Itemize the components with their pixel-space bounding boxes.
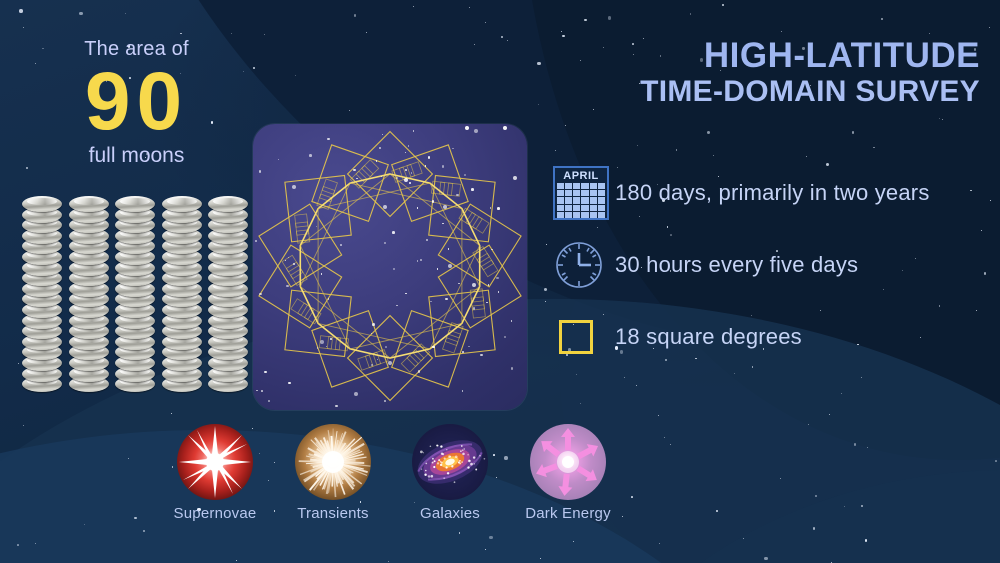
- galaxy-star: [474, 463, 475, 464]
- calendar-cell: [598, 197, 605, 203]
- dark-energy-arrow: [534, 460, 559, 481]
- star: [873, 147, 875, 149]
- calendar-cell: [573, 212, 580, 218]
- science-label-galaxies: Galaxies: [395, 505, 505, 522]
- star: [841, 393, 842, 394]
- clock-icon-wrap: [553, 239, 615, 291]
- panel-star: [456, 194, 459, 197]
- panel-star: [471, 188, 474, 191]
- title-line-2: TIME-DOMAIN SURVEY: [560, 75, 980, 109]
- star: [780, 478, 781, 479]
- star: [537, 62, 541, 66]
- star: [844, 506, 845, 507]
- calendar-cell: [565, 205, 572, 211]
- galaxy-star: [428, 475, 430, 477]
- star: [781, 31, 782, 32]
- panel-star: [340, 244, 342, 246]
- galaxy-star: [455, 455, 458, 458]
- calendar-cell: [557, 205, 564, 211]
- star: [861, 505, 863, 507]
- panel-star: [472, 283, 476, 287]
- galaxy-star: [475, 469, 477, 471]
- calendar-icon-wrap: APRIL: [553, 166, 615, 220]
- calendar-cell: [590, 197, 597, 203]
- galaxy-star: [434, 460, 436, 462]
- calendar-cell: [590, 205, 597, 211]
- calendar-cell: [590, 212, 597, 218]
- calendar-cell: [590, 183, 597, 189]
- moon-disc: [69, 196, 109, 212]
- galaxy-star: [454, 481, 456, 483]
- footprint-chord: [300, 183, 350, 286]
- calendar-cell: [557, 190, 564, 196]
- galaxy-star: [444, 458, 446, 460]
- panel-star: [317, 347, 319, 349]
- star: [35, 543, 36, 544]
- calendar-cell: [557, 197, 564, 203]
- calendar-cell: [565, 197, 572, 203]
- star: [264, 34, 265, 35]
- galaxy-star: [425, 470, 427, 472]
- science-label-dark-energy: Dark Energy: [513, 505, 623, 522]
- dark-energy-orb-icon: [530, 424, 606, 500]
- science-target-supernovae: Supernovae: [160, 424, 270, 522]
- dark-energy-arrow: [575, 440, 601, 463]
- calendar-cell: [565, 212, 572, 218]
- star: [707, 131, 711, 135]
- calendar-cell: [598, 205, 605, 211]
- footprint-chord: [300, 246, 350, 349]
- galaxy-star: [437, 445, 439, 447]
- calendar-icon: APRIL: [553, 166, 609, 220]
- panel-star: [428, 156, 431, 159]
- moon-disc: [162, 196, 202, 212]
- star: [366, 32, 368, 34]
- panel-star: [497, 207, 500, 210]
- galaxy-star: [479, 455, 480, 456]
- moon-stack: [69, 196, 109, 396]
- footprint-hull: [300, 174, 479, 358]
- fact-text-cadence: 30 hours every five days: [615, 252, 858, 278]
- star: [659, 543, 660, 544]
- star: [555, 150, 556, 151]
- panel-star: [488, 284, 490, 286]
- galaxy-star: [462, 449, 464, 451]
- star: [608, 16, 612, 20]
- galaxy-star: [464, 448, 465, 449]
- star: [722, 4, 724, 6]
- star: [546, 244, 547, 245]
- panel-star: [413, 130, 415, 132]
- panel-star: [256, 390, 258, 392]
- panel-star: [292, 185, 296, 189]
- galaxy-star: [473, 456, 475, 458]
- science-target-galaxies: Galaxies: [395, 424, 505, 522]
- survey-facts-list: APRIL 180 days, primarily in two years: [553, 162, 993, 378]
- calendar-cell: [581, 197, 588, 203]
- panel-star: [474, 129, 478, 133]
- calendar-cell: [598, 212, 605, 218]
- star: [253, 67, 255, 69]
- survey-footprint-diagram: [253, 124, 527, 410]
- star: [388, 561, 389, 562]
- star: [929, 33, 930, 34]
- calendar-cell: [573, 183, 580, 189]
- panel-star: [255, 240, 257, 242]
- galaxy-star: [432, 458, 434, 460]
- star: [690, 13, 692, 15]
- star: [562, 35, 564, 37]
- panel-star: [259, 293, 262, 296]
- moon-disc: [115, 196, 155, 212]
- panel-star: [293, 263, 295, 265]
- panel-star: [465, 126, 469, 130]
- panel-star: [404, 178, 408, 182]
- moon-stack: [115, 196, 155, 396]
- panel-star: [462, 351, 464, 353]
- star: [743, 538, 744, 539]
- galaxy-star: [470, 463, 473, 466]
- panel-star: [426, 239, 428, 241]
- galaxy-star: [437, 462, 439, 464]
- star: [23, 27, 24, 28]
- fact-text-duration: 180 days, primarily in two years: [615, 180, 930, 206]
- science-label-transients: Transients: [278, 505, 388, 522]
- star: [545, 301, 546, 302]
- galaxy-star: [460, 450, 462, 452]
- galaxy-star: [446, 449, 447, 450]
- star: [593, 109, 594, 110]
- calendar-cell: [565, 190, 572, 196]
- calendar-cell: [590, 190, 597, 196]
- star: [469, 7, 470, 8]
- galaxy-star: [420, 451, 423, 454]
- calendar-cell: [573, 197, 580, 203]
- panel-star: [259, 170, 262, 173]
- panel-star: [264, 371, 267, 374]
- star: [84, 524, 85, 525]
- transient-orb-icon: [295, 424, 371, 500]
- star: [867, 447, 868, 448]
- panel-star: [405, 169, 407, 171]
- calendar-cell: [598, 190, 605, 196]
- panel-star: [432, 346, 435, 349]
- panel-star: [330, 338, 332, 340]
- fact-row-area: 18 square degrees: [553, 306, 993, 368]
- science-label-supernovae: Supernovae: [160, 505, 270, 522]
- star: [942, 119, 943, 120]
- star: [507, 40, 508, 41]
- star: [881, 18, 883, 20]
- star: [295, 75, 296, 76]
- calendar-grid: [557, 183, 605, 218]
- panel-star: [261, 390, 263, 392]
- panel-star: [445, 298, 448, 301]
- dark-energy-arrow: [574, 462, 600, 486]
- star: [501, 36, 503, 38]
- calendar-cell: [573, 205, 580, 211]
- galaxy-star: [430, 475, 433, 478]
- star: [143, 530, 145, 532]
- calendar-cell: [581, 190, 588, 196]
- star: [664, 437, 665, 438]
- galaxy-star: [440, 445, 442, 447]
- moon-stack: [162, 196, 202, 396]
- panel-star: [383, 205, 387, 209]
- calendar-month-label: APRIL: [557, 170, 605, 183]
- moon-stack: [22, 196, 62, 396]
- star: [829, 414, 831, 416]
- panel-star: [320, 340, 324, 344]
- galaxy-star: [484, 458, 486, 460]
- star: [485, 549, 486, 550]
- star: [134, 517, 136, 519]
- star: [637, 145, 638, 146]
- calendar-cell: [598, 183, 605, 189]
- fact-row-duration: APRIL 180 days, primarily in two years: [553, 162, 993, 224]
- galaxy-star: [432, 462, 434, 464]
- galaxy-star: [430, 445, 432, 447]
- galaxy-orb-icon: [412, 424, 488, 500]
- science-target-transients: Transients: [278, 424, 388, 522]
- dark-energy-arrow: [557, 473, 573, 496]
- galaxy-star: [425, 463, 427, 465]
- panel-star: [442, 165, 445, 168]
- galaxy-star: [441, 462, 443, 464]
- galaxy-star: [421, 468, 422, 469]
- calendar-cell: [557, 212, 564, 218]
- star: [231, 33, 232, 34]
- panel-star: [448, 264, 452, 268]
- star: [815, 495, 817, 497]
- panel-star: [372, 323, 375, 326]
- moon-disc: [208, 196, 248, 212]
- star: [854, 443, 856, 445]
- star: [584, 19, 586, 21]
- galaxy-star: [447, 472, 449, 474]
- star: [474, 44, 475, 45]
- star: [349, 110, 350, 111]
- star: [939, 118, 940, 119]
- panel-star: [392, 231, 395, 234]
- title-line-1: HIGH-LATITUDE: [560, 38, 980, 75]
- star: [808, 424, 809, 425]
- calendar-cell: [581, 205, 588, 211]
- science-target-dark-energy: Dark Energy: [513, 424, 623, 522]
- star: [17, 544, 19, 546]
- galaxy-star: [438, 459, 440, 461]
- galaxy-star: [461, 461, 462, 462]
- galaxy-star: [462, 453, 465, 456]
- page-title: HIGH-LATITUDE TIME-DOMAIN SURVEY: [560, 38, 980, 108]
- galaxy-star: [459, 462, 461, 464]
- panel-star: [379, 147, 381, 149]
- panel-star: [448, 248, 450, 250]
- star: [852, 131, 854, 133]
- science-targets-row: Supernovae Transients: [160, 424, 640, 544]
- star: [19, 9, 23, 13]
- moons-caption-bottom: full moons: [24, 144, 249, 168]
- moon-disc-stacks: [22, 196, 248, 396]
- calendar-cell: [565, 183, 572, 189]
- calendar-cell: [581, 212, 588, 218]
- star: [716, 510, 718, 512]
- moons-number: 90: [24, 63, 249, 142]
- galaxy-star: [459, 460, 461, 462]
- fact-row-cadence: 30 hours every five days: [553, 234, 993, 296]
- panel-star: [309, 154, 312, 157]
- calendar-cell: [581, 183, 588, 189]
- panel-star: [371, 364, 373, 366]
- fact-text-area: 18 square degrees: [615, 324, 802, 350]
- star: [561, 31, 562, 32]
- star: [989, 27, 990, 28]
- galaxy-star: [461, 445, 463, 447]
- galaxy-star: [424, 474, 426, 476]
- panel-star: [385, 346, 387, 348]
- star: [995, 460, 997, 462]
- footprint-chord: [430, 246, 480, 349]
- star: [413, 6, 414, 7]
- survey-footprint-panel: [253, 124, 527, 410]
- galaxy-star: [448, 455, 451, 458]
- star: [806, 156, 807, 157]
- calendar-cell: [557, 183, 564, 189]
- star: [658, 415, 660, 417]
- galaxy-star: [442, 453, 444, 455]
- panel-star: [328, 298, 330, 300]
- moon-disc: [22, 196, 62, 212]
- galaxy-star: [440, 464, 442, 466]
- star: [485, 22, 486, 23]
- galaxy-star: [469, 460, 470, 461]
- full-moons-callout: The area of 90 full moons: [24, 38, 249, 168]
- galaxy-star: [467, 466, 469, 468]
- star: [544, 288, 548, 292]
- panel-star: [513, 176, 517, 180]
- panel-star: [418, 370, 421, 373]
- star: [580, 403, 581, 404]
- star: [813, 527, 815, 529]
- dark-energy-arrow: [561, 428, 575, 450]
- star: [354, 14, 356, 16]
- yellow-square-icon: [559, 320, 593, 354]
- supernova-orb-icon: [177, 424, 253, 500]
- footprint-chord: [430, 183, 480, 286]
- galaxy-star: [467, 454, 469, 456]
- galaxy-star: [433, 466, 435, 468]
- star: [713, 155, 714, 156]
- star: [180, 33, 182, 35]
- galaxy-star: [451, 465, 453, 467]
- star: [565, 125, 566, 126]
- clock-icon: [553, 239, 605, 291]
- star: [79, 12, 83, 16]
- star: [636, 385, 637, 386]
- star: [676, 149, 678, 151]
- infographic-canvas: The area of 90 full moons HIGH-LATITUDE …: [0, 0, 1000, 563]
- star: [865, 539, 867, 541]
- panel-star: [384, 400, 386, 402]
- star: [670, 444, 671, 445]
- galaxy-star: [423, 452, 424, 453]
- star: [23, 425, 24, 426]
- star: [128, 458, 129, 459]
- star: [125, 13, 127, 15]
- calendar-cell: [573, 190, 580, 196]
- panel-star: [268, 400, 270, 402]
- galaxy-star: [445, 466, 447, 468]
- galaxy-star: [443, 477, 445, 479]
- star: [764, 557, 768, 561]
- star: [171, 413, 172, 414]
- panel-star: [335, 405, 338, 408]
- yellow-square-icon-wrap: [553, 320, 615, 354]
- moon-stack: [208, 196, 248, 396]
- star: [18, 363, 19, 364]
- star: [540, 558, 541, 559]
- star: [538, 104, 539, 105]
- star: [236, 560, 237, 561]
